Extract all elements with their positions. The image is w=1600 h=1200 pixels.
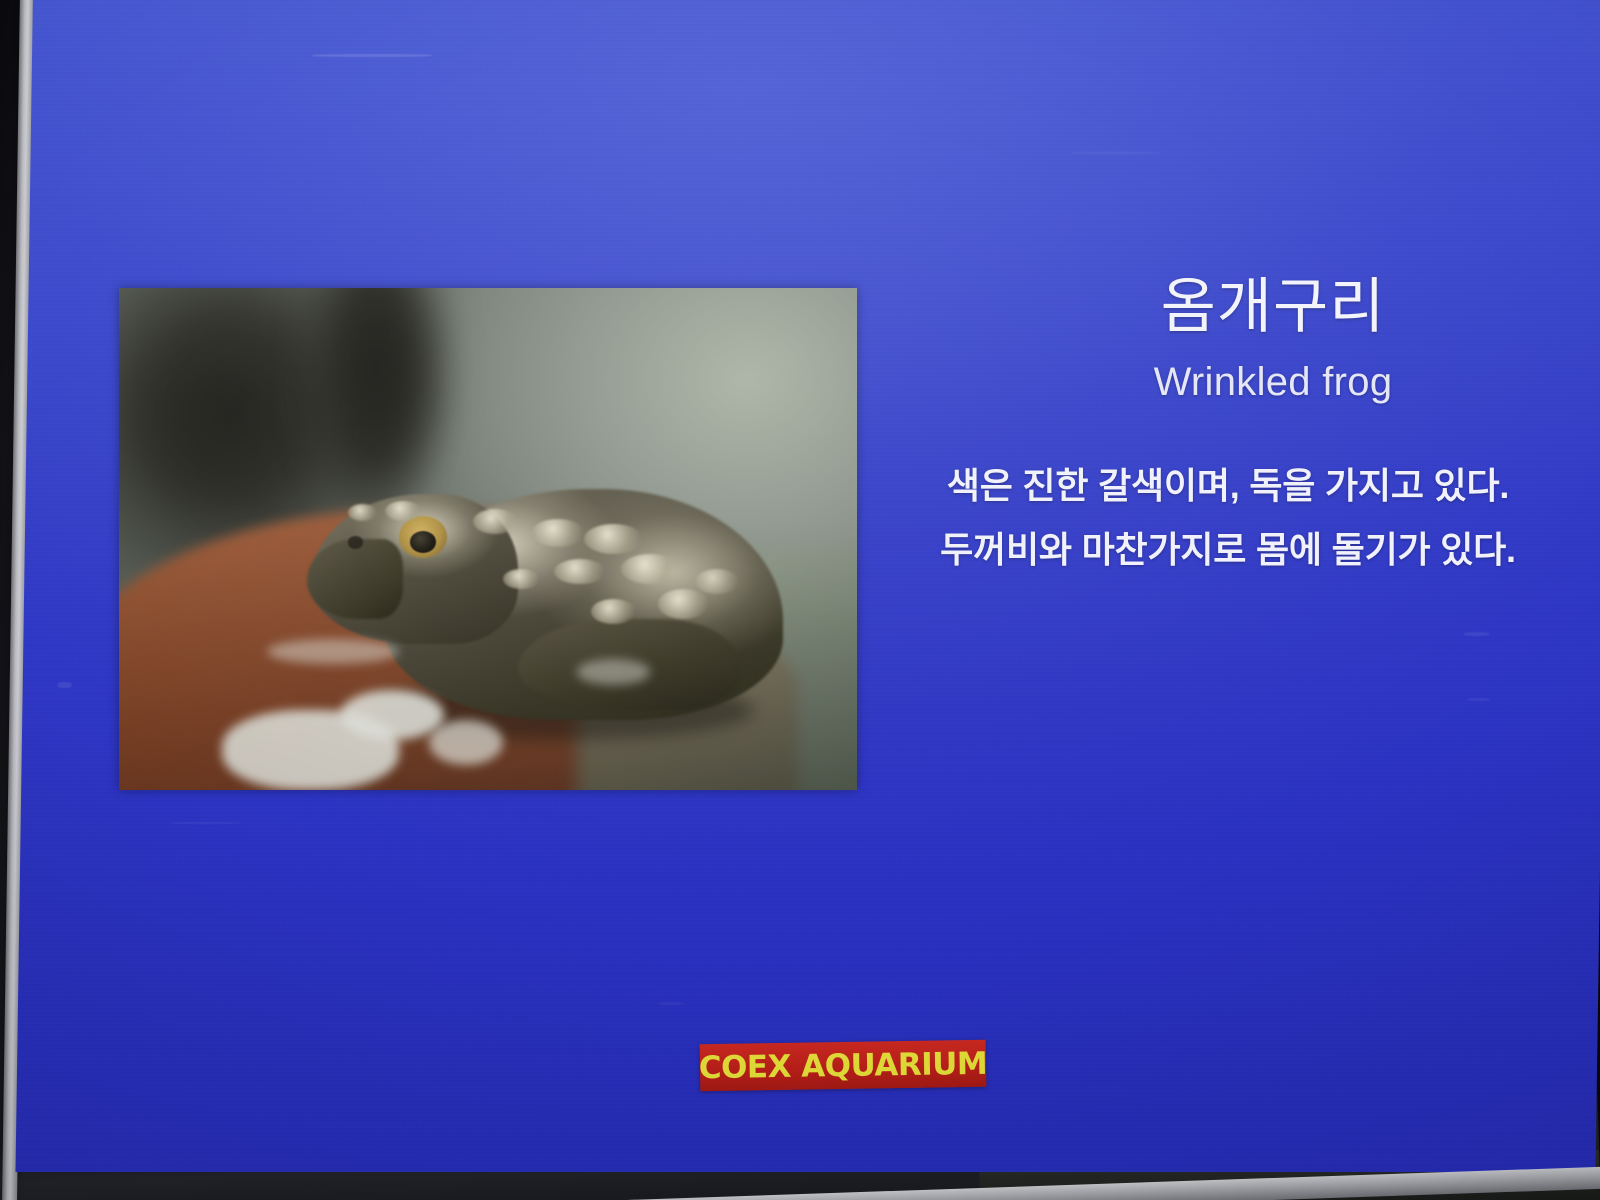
frog-snout (307, 539, 403, 619)
frog-wart (591, 599, 635, 624)
photo-foam (340, 690, 443, 740)
frog-wart (532, 519, 584, 547)
species-description: 색은 진한 갈색이며, 독을 가지고 있다. 두꺼비와 마찬가지로 몸에 돌기가… (888, 454, 1568, 582)
photo-foam (577, 659, 651, 684)
coex-aquarium-logo: COEX AQUARIUM (700, 1040, 987, 1091)
frog-wart (554, 559, 606, 584)
species-name-korean: 옴개구리 (1058, 275, 1488, 338)
photo-foam (429, 720, 503, 765)
exhibit-sign-photo: 옴개구리 Wrinkled frog 색은 진한 갈색이며, 독을 가지고 있다… (0, 0, 1600, 1200)
description-line-2: 두꺼비와 마찬가지로 몸에 돌기가 있다. (888, 518, 1568, 582)
frog-wart (473, 509, 517, 534)
frog-wart (584, 524, 643, 554)
logo-label: COEX AQUARIUM (699, 1045, 988, 1086)
frog-wart (695, 569, 739, 594)
frog-photo (119, 288, 857, 790)
species-name-english: Wrinkled frog (1058, 360, 1488, 404)
description-line-1: 색은 진한 갈색이며, 독을 가지고 있다. (888, 454, 1568, 518)
frog-nostril (348, 536, 363, 548)
frog-wart (621, 554, 680, 584)
frog-wart (348, 504, 378, 521)
exhibit-panel: 옴개구리 Wrinkled frog 색은 진한 갈색이며, 독을 가지고 있다… (15, 0, 1600, 1172)
frog-wart (503, 569, 540, 589)
